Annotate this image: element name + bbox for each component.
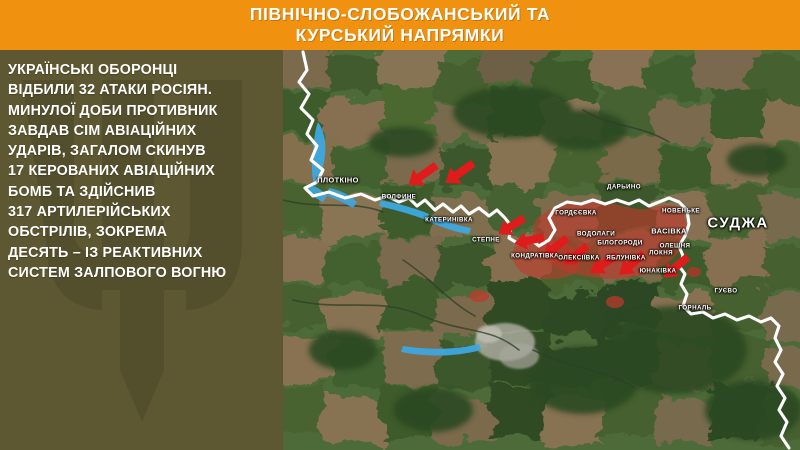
header-banner: ПІВНІЧНО-СЛОБОЖАНСЬКИЙ ТА КУРСЬКИЙ НАПРЯ… [0, 0, 800, 50]
report-panel: УКРАЇНСЬКІ ОБОРОНЦІ ВІДБИЛИ 32 АТАКИ РОС… [0, 50, 283, 450]
map-area[interactable]: ПЛОТКІНОВОЛФИНЕКАТЕРИНІВКАСТЕПНЕКОНДРАТІ… [283, 50, 800, 450]
satellite-map-canvas[interactable] [283, 50, 800, 450]
page-title: ПІВНІЧНО-СЛОБОЖАНСЬКИЙ ТА КУРСЬКИЙ НАПРЯ… [250, 4, 550, 46]
infographic-root: ПІВНІЧНО-СЛОБОЖАНСЬКИЙ ТА КУРСЬКИЙ НАПРЯ… [0, 0, 800, 450]
report-body-text: УКРАЇНСЬКІ ОБОРОНЦІ ВІДБИЛИ 32 АТАКИ РОС… [0, 52, 283, 283]
